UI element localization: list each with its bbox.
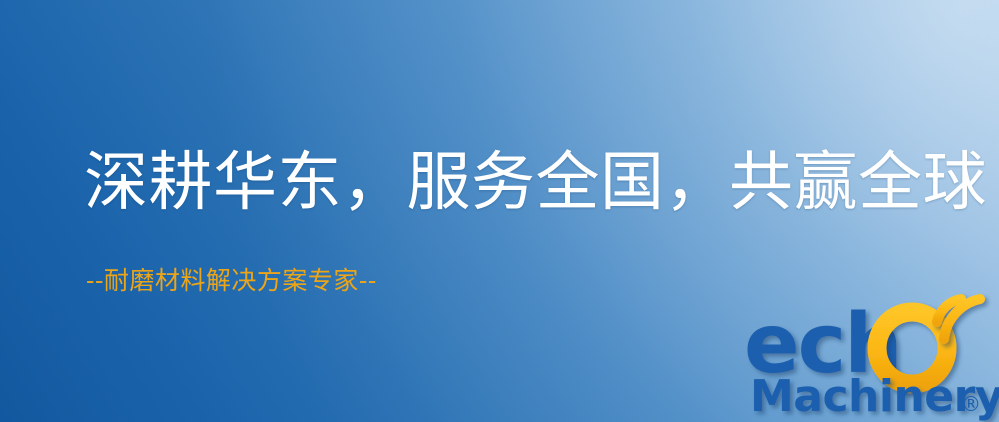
logo-text-machinery: Machinery ® <box>750 371 999 422</box>
company-logo[interactable]: ech Machinery ® <box>744 296 999 422</box>
hero-banner: 深耕华东，服务全国，共赢全球 --耐磨材料解决方案专家-- <box>0 0 999 422</box>
page-title: 深耕华东，服务全国，共赢全球 <box>84 148 987 220</box>
page-subtitle: --耐磨材料解决方案专家-- <box>86 266 377 296</box>
registered-trademark-icon: ® <box>961 392 981 416</box>
